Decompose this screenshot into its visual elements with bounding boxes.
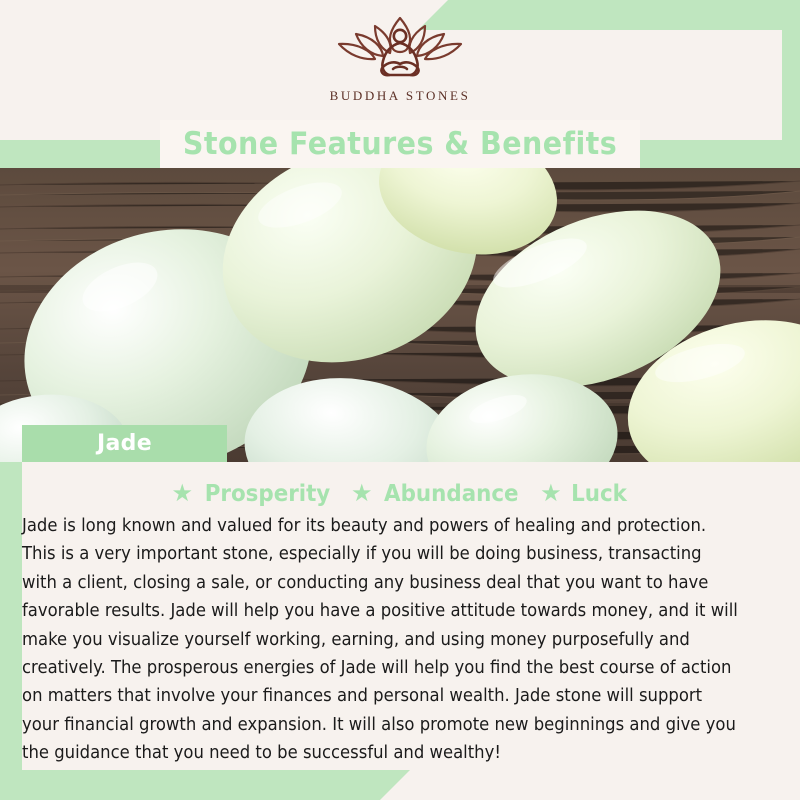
benefit-label: Luck: [571, 481, 627, 507]
page-title: Stone Features & Benefits: [183, 126, 617, 162]
stone-name-badge: Jade: [22, 425, 227, 462]
brand-logo: BUDDHA STONES: [0, 14, 800, 104]
stone-description: Jade is long known and valued for its be…: [22, 512, 790, 768]
header: BUDDHA STONES Stone Features & Benefits: [0, 0, 800, 168]
jade-stones-illustration: [0, 167, 800, 462]
benefit-label: Abundance: [385, 481, 519, 507]
stone-description-text: Jade is long known and valued for its be…: [22, 512, 740, 768]
benefits-row: ★ Prosperity ★ Abundance ★ Luck: [0, 478, 800, 510]
stone-name-label: Jade: [97, 431, 152, 456]
brand-name: BUDDHA STONES: [330, 88, 471, 104]
benefit-label: Prosperity: [205, 481, 331, 507]
decorative-band-bottom: [0, 770, 410, 800]
star-icon: ★: [171, 482, 193, 506]
benefit-item-prosperity: ★ Prosperity: [171, 481, 334, 507]
star-icon: ★: [351, 482, 373, 506]
benefit-item-abundance: ★ Abundance: [351, 481, 524, 507]
jade-stones-photo: [0, 167, 800, 462]
star-icon: ★: [540, 482, 562, 506]
benefit-item-luck: ★ Luck: [540, 481, 628, 507]
page-title-plate: Stone Features & Benefits: [160, 120, 640, 168]
lotus-meditation-icon: [325, 14, 475, 84]
